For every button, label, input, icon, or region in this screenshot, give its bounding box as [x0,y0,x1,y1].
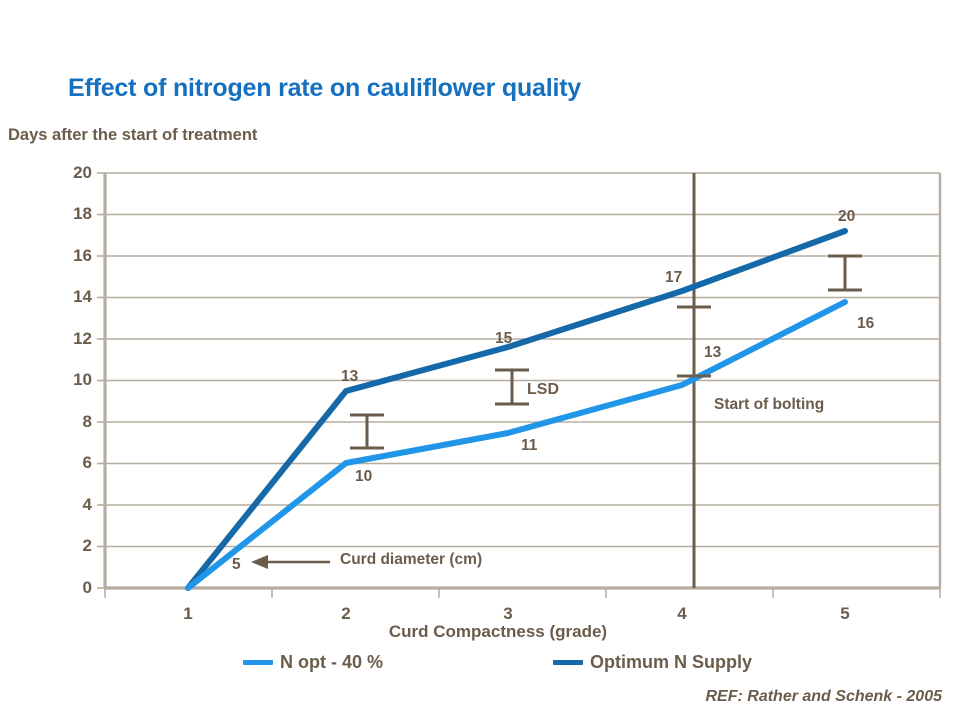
y-tick-label-4: 4 [50,495,92,515]
y-tick-label-12: 12 [50,329,92,349]
pt-label-s2-x2: 13 [341,368,358,386]
x-tick-label-2: 2 [326,604,366,624]
pt-label-s1-x2: 10 [355,468,372,486]
legend-label-0: N opt - 40 % [280,652,383,673]
legend-swatch-icon-0 [243,660,273,665]
pt-label-s2-x3: 15 [495,330,512,348]
error-bar-x5 [828,256,862,290]
pt-label-s1-x5: 16 [857,315,874,333]
plot-area [0,0,960,720]
pt-label-s2-x5: 20 [838,208,855,226]
curd-diameter-label: Curd diameter (cm) [340,551,482,569]
y-tick-label-16: 16 [50,246,92,266]
x-tick-label-1: 1 [168,604,208,624]
legend-label-1: Optimum N Supply [590,652,752,673]
start-of-bolting-label: Start of bolting [714,396,824,414]
legend-item-optimum-n-supply[interactable]: Optimum N Supply [553,652,752,673]
x-axis-title-text: Curd Compactness (grade) [389,622,607,641]
error-bar-x4 [677,307,711,376]
pt-label-s2-x4: 17 [665,269,682,287]
y-tick-label-20: 20 [50,163,92,183]
y-tick-label-18: 18 [50,204,92,224]
error-bar-x2 [350,415,384,448]
lsd-label: LSD [527,381,559,399]
y-tick-label-2: 2 [50,536,92,556]
legend-item-n-opt-40[interactable]: N opt - 40 % [243,652,383,673]
error-bar-x3-lsd [495,370,529,404]
pt-label-s1-x4: 13 [704,344,721,362]
curd-diameter-arrow [251,555,330,569]
y-tick-label-8: 8 [50,412,92,432]
pt-label-s1-x1: 5 [232,556,241,574]
grid-lines [105,173,940,547]
reference-note: REF: Rather and Schenk - 2005 [0,688,960,706]
x-tick-label-3: 3 [488,604,528,624]
pt-label-s1-x3: 11 [521,437,537,455]
y-tick-label-10: 10 [50,370,92,390]
chart-container: Effect of nitrogen rate on cauliflower q… [0,0,960,720]
legend-swatch-icon-1 [553,660,583,665]
y-tick-label-0: 0 [50,578,92,598]
x-axis-title: Curd Compactness (grade) [0,622,960,642]
x-tick-label-5: 5 [825,604,865,624]
x-tick-label-4: 4 [662,604,702,624]
y-tick-label-14: 14 [50,287,92,307]
y-tick-label-6: 6 [50,453,92,473]
chart-legend: N opt - 40 % Optimum N Supply [0,652,960,680]
